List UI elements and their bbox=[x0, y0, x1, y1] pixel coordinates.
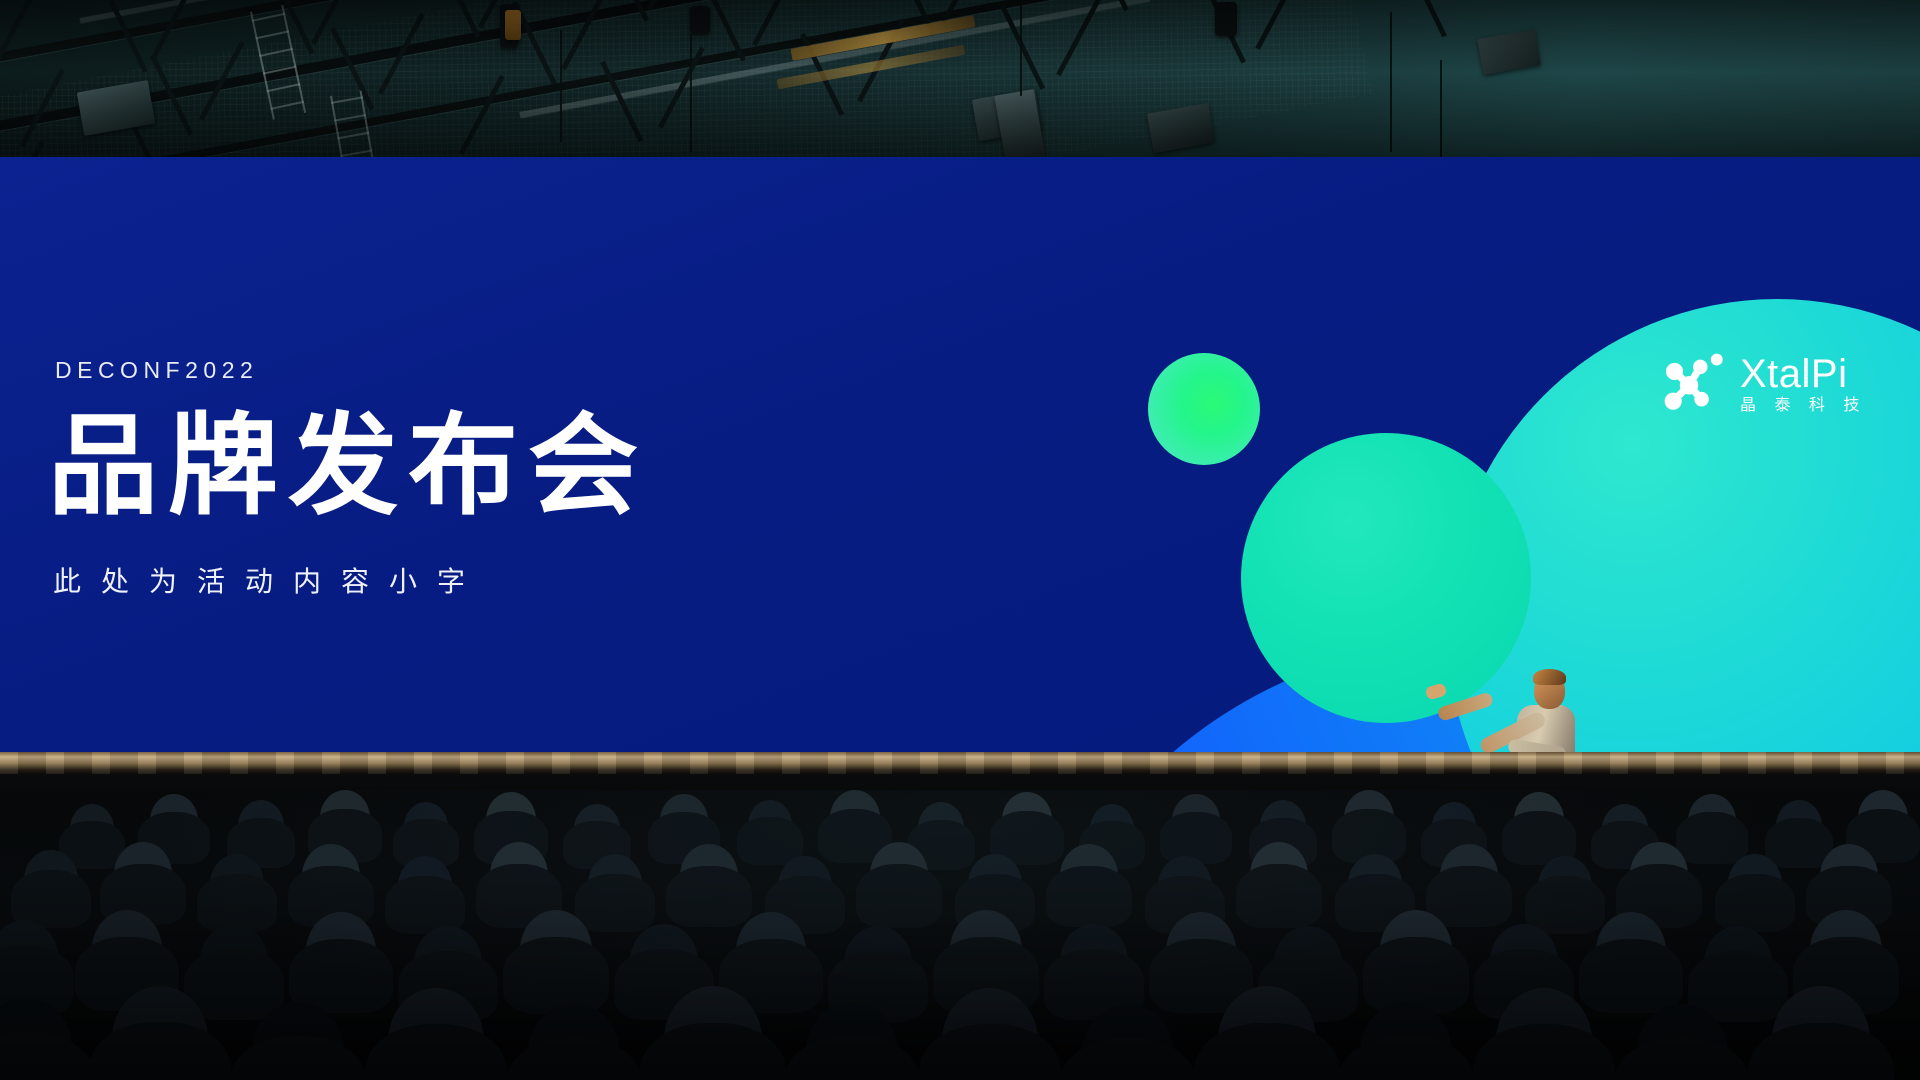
truss-diagonal bbox=[700, 0, 746, 62]
presenter-hair bbox=[1533, 669, 1566, 685]
cable bbox=[1020, 0, 1022, 96]
brand-wordmark: XtalPi bbox=[1740, 354, 1866, 394]
hanging-light-fixture bbox=[1147, 103, 1215, 153]
event-code-label: DECONF2022 bbox=[55, 357, 258, 384]
audience-head bbox=[574, 804, 620, 854]
truss-diagonal bbox=[890, 0, 936, 36]
truss-diagonal bbox=[132, 127, 173, 160]
hanging-light-fixture bbox=[77, 80, 156, 136]
audience-head bbox=[950, 910, 1022, 990]
audience-head bbox=[1060, 844, 1118, 908]
audience-head bbox=[490, 842, 548, 908]
truss-diagonal bbox=[857, 19, 905, 103]
brand-logo: XtalPi 晶 泰 科 技 bbox=[1660, 351, 1866, 417]
audience-head bbox=[320, 790, 370, 846]
audience-head bbox=[24, 850, 78, 910]
audience-head bbox=[520, 910, 592, 990]
truss-diagonal bbox=[330, 27, 374, 110]
truss-ceiling bbox=[0, 0, 1920, 160]
truss-diagonal bbox=[272, 0, 314, 54]
audience-head bbox=[404, 802, 448, 852]
audience-head bbox=[1630, 842, 1688, 908]
hanging-light-fixture bbox=[972, 89, 1042, 141]
hanging-speaker-box bbox=[994, 89, 1046, 160]
truss-diagonal bbox=[478, 0, 525, 29]
cable bbox=[690, 34, 692, 152]
audience-head bbox=[1538, 856, 1592, 916]
truss-diagonal bbox=[150, 55, 193, 136]
audience-head bbox=[1348, 854, 1402, 914]
audience-head bbox=[1858, 790, 1908, 846]
audience-head bbox=[1776, 800, 1822, 852]
truss-diagonal bbox=[1255, 0, 1304, 50]
audience-head bbox=[1728, 854, 1782, 914]
audience-head bbox=[0, 920, 58, 994]
subtitle-label: 此处为活动内容小字 bbox=[53, 560, 485, 600]
audience-head bbox=[830, 790, 880, 846]
audience-head bbox=[630, 924, 698, 998]
audience-head bbox=[1596, 912, 1666, 990]
audience-head bbox=[1060, 924, 1128, 998]
truss-diagonal bbox=[512, 1, 557, 86]
audience-head bbox=[844, 926, 912, 1000]
truss-diagonal bbox=[1000, 5, 1045, 90]
ceiling-mesh bbox=[0, 0, 1372, 160]
cable bbox=[1390, 12, 1392, 152]
truss-diagonal bbox=[1400, 0, 1447, 37]
audience-head bbox=[1496, 988, 1592, 1080]
audience-head bbox=[918, 802, 964, 854]
truss-diagonal bbox=[604, 0, 649, 22]
ladder-icon bbox=[250, 5, 306, 120]
audience-head bbox=[398, 856, 452, 916]
truss-diagonal bbox=[378, 13, 425, 95]
audience-head bbox=[1820, 844, 1878, 908]
page-title: 品牌发布会 bbox=[48, 409, 648, 526]
audience-head bbox=[680, 844, 738, 908]
cable bbox=[1440, 60, 1442, 160]
truss-diagonal bbox=[941, 0, 990, 24]
audience-head bbox=[306, 912, 376, 990]
truss-diagonal bbox=[561, 0, 609, 70]
truss-diagonal bbox=[0, 0, 35, 64]
audience-head bbox=[588, 854, 642, 914]
truss-diagonal bbox=[108, 0, 148, 73]
truss-diagonal bbox=[150, 0, 195, 61]
audience-head bbox=[302, 844, 360, 908]
audience-head bbox=[1002, 792, 1052, 848]
truss-diagonal bbox=[1056, 0, 1105, 76]
brand-chinese-name: 晶 泰 科 技 bbox=[1740, 398, 1866, 414]
audience-head bbox=[660, 794, 708, 848]
truss-beam bbox=[0, 0, 1446, 67]
truss-diagonal bbox=[658, 47, 705, 129]
decorative-circle-small-green bbox=[1148, 353, 1260, 465]
audience-head bbox=[70, 804, 114, 854]
audience-head bbox=[1688, 794, 1736, 848]
warm-strip-light bbox=[790, 15, 975, 61]
audience-head bbox=[150, 794, 198, 848]
audience-head bbox=[200, 924, 268, 998]
audience-head bbox=[1704, 926, 1772, 1000]
truss-beam-highlight bbox=[519, 0, 1149, 118]
audience-head bbox=[1380, 910, 1452, 990]
audience-head bbox=[1490, 924, 1558, 998]
hanging-fixture bbox=[500, 4, 518, 48]
audience-head bbox=[1166, 912, 1236, 990]
truss-beam bbox=[0, 0, 1544, 160]
truss-diagonal bbox=[647, 0, 695, 10]
truss-diagonal bbox=[600, 61, 643, 142]
truss-diagonal bbox=[1200, 0, 1246, 64]
truss-diagonal bbox=[436, 0, 480, 38]
presenter-figure bbox=[1486, 669, 1626, 752]
audience-head bbox=[1250, 842, 1308, 908]
audience-head bbox=[1514, 792, 1564, 848]
cable bbox=[560, 30, 562, 142]
audience-head bbox=[210, 854, 264, 914]
audience-head bbox=[1602, 804, 1648, 854]
audience-head bbox=[870, 842, 928, 908]
ladder-icon bbox=[330, 90, 374, 160]
audience-head bbox=[748, 800, 792, 850]
audience-head bbox=[968, 854, 1022, 914]
audience-head bbox=[1344, 790, 1394, 846]
amber-light bbox=[505, 10, 521, 40]
audience-head bbox=[1810, 910, 1882, 990]
audience-head bbox=[238, 800, 284, 852]
warm-strip-light bbox=[777, 45, 966, 89]
hanging-fixture bbox=[1215, 2, 1237, 36]
brand-logo-text: XtalPi 晶 泰 科 技 bbox=[1740, 354, 1866, 414]
hanging-fixture bbox=[690, 6, 710, 34]
hanging-light-fixture bbox=[1477, 29, 1540, 75]
seated-audience bbox=[0, 790, 1920, 1080]
audience-head bbox=[736, 912, 806, 990]
truss-diagonal bbox=[459, 75, 505, 155]
truss-beam bbox=[0, 0, 1495, 138]
truss-diagonal bbox=[20, 69, 65, 147]
audience-head bbox=[486, 792, 536, 848]
stage-edge-lighting bbox=[0, 752, 1920, 774]
truss-diagonal bbox=[752, 0, 801, 46]
audience-head bbox=[1440, 844, 1498, 908]
truss-beam-highlight bbox=[80, 0, 1015, 23]
truss-diagonal bbox=[800, 33, 844, 116]
truss-diagonal bbox=[311, 0, 357, 45]
xtalpi-molecule-icon bbox=[1660, 351, 1726, 417]
audience-head bbox=[92, 910, 162, 988]
led-screen: DECONF2022 品牌发布会 此处为活动内容小字 Intelligent n… bbox=[0, 157, 1920, 752]
truss-diagonal bbox=[1082, 0, 1129, 11]
truss-diagonal bbox=[199, 41, 245, 121]
audience-head bbox=[1158, 856, 1212, 916]
audience-head bbox=[114, 842, 172, 906]
audience-head bbox=[1172, 794, 1220, 848]
audience-head bbox=[778, 856, 832, 916]
stage-photo-scene: DECONF2022 品牌发布会 此处为活动内容小字 Intelligent n… bbox=[0, 0, 1920, 1080]
audience-head bbox=[528, 1004, 620, 1080]
